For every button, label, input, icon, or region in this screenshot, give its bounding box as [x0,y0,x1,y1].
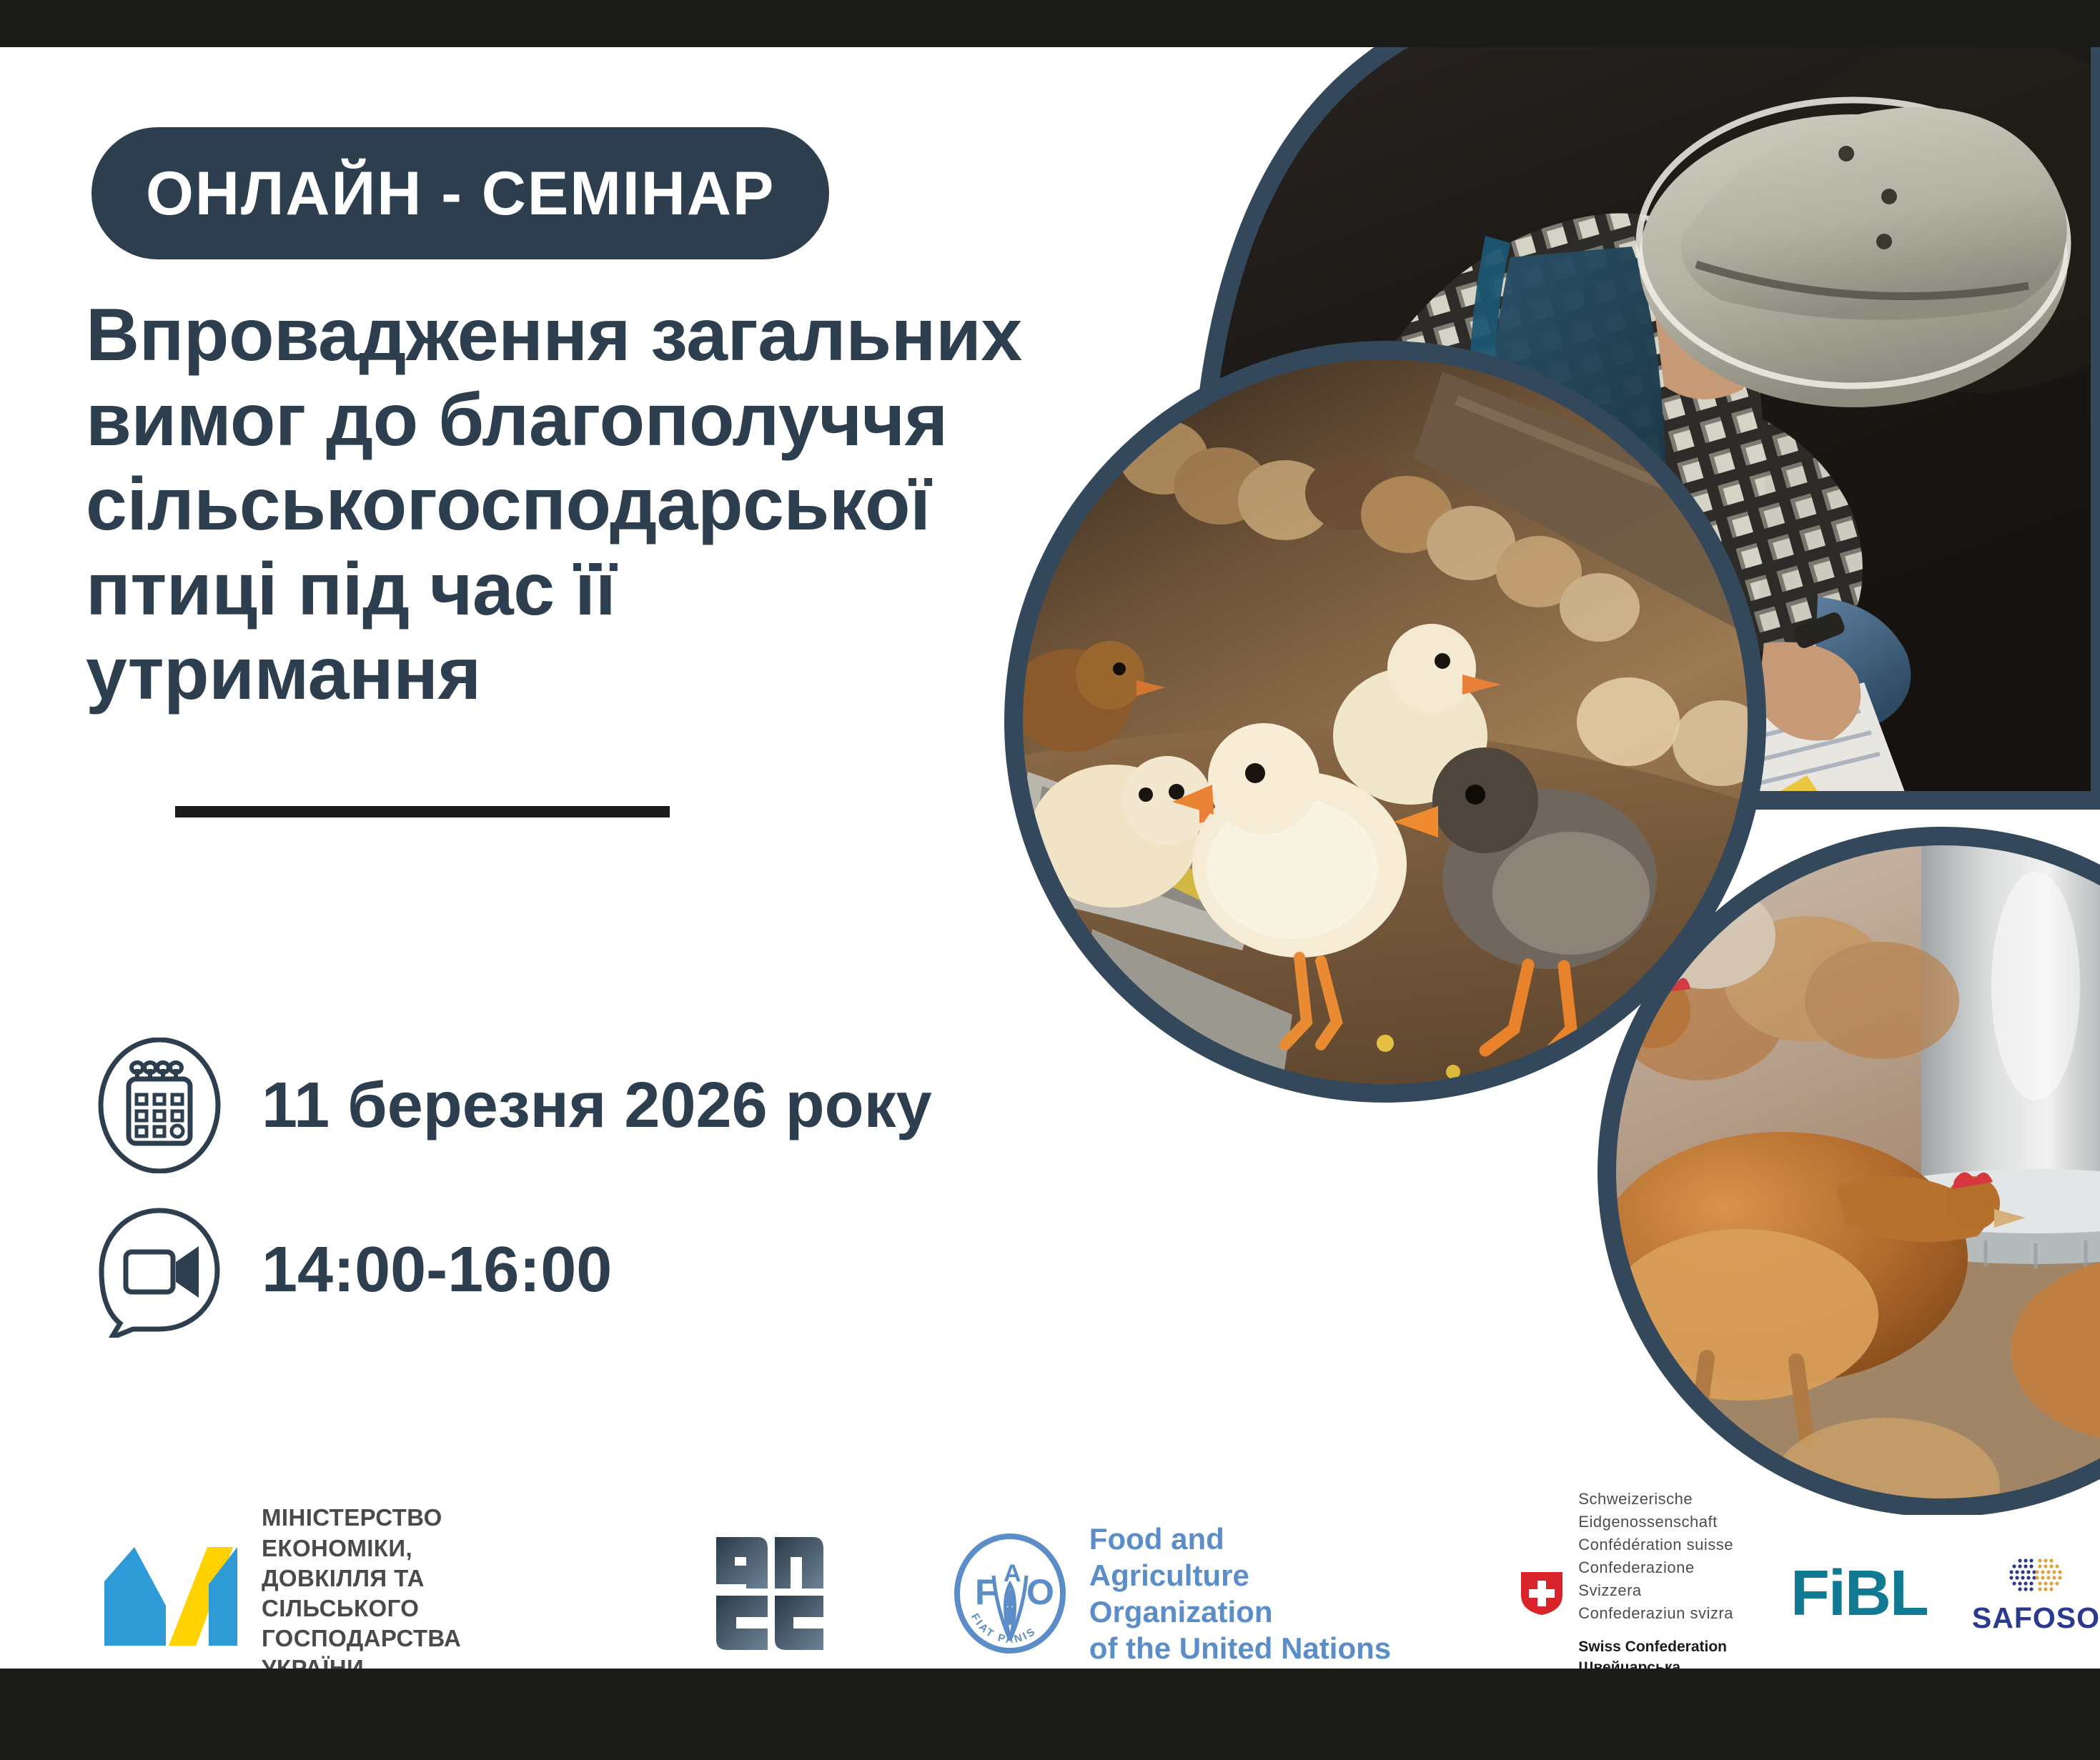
badge-label: ОНЛАЙН - СЕМІНАР [146,163,775,224]
fao-line-1: Food and Agriculture Organization [1089,1521,1391,1631]
swiss-line-de: Schweizerische Eidgenossenschaft [1578,1488,1740,1533]
fao-name: Food and Agriculture Organization of the… [1089,1521,1391,1667]
swiss-line-rm: Confederaziun svizra [1578,1602,1740,1625]
title-line-4: птиці під час її [86,547,1172,632]
safoso-dots-icon [2003,1555,2069,1599]
svg-text:A: A [1004,1560,1021,1587]
title-line-3: сільськогосподарської [86,462,1172,547]
fao-line-2: of the United Nations [1089,1630,1391,1666]
swiss-line-en: Swiss Confederation [1578,1636,1740,1657]
event-date-row: 11 березня 2026 року [91,1023,1092,1188]
swiss-text-block: Schweizerische Eidgenossenschaft Confédé… [1578,1488,1740,1699]
fao-emblem: F A O FIAT PANIS [949,1533,1071,1654]
online-seminar-badge: ОНЛАЙН - СЕМІНАР [91,127,829,259]
event-time-row: 14:00-16:00 [91,1188,1092,1352]
swiss-line-fr: Confédération suisse [1578,1533,1740,1556]
dpss-monogram [713,1533,828,1654]
ministry-m-mark [100,1540,243,1647]
ministry-line-2: ДОВКІЛЛЯ ТА СІЛЬСЬКОГО ГОСПОДАРСТВА [262,1563,585,1654]
partner-logos: МІНІСТЕРСТВО ЕКОНОМІКИ, ДОВКІЛЛЯ ТА СІЛЬ… [0,1518,2100,1669]
dpss-logo [713,1533,828,1654]
event-date: 11 березня 2026 року [262,1069,932,1143]
title-line-1: Впровадження загальних [86,293,1172,378]
safoso-logo: SAFOSO [1972,1555,2100,1633]
swiss-confederation-logo: Schweizerische Eidgenossenschaft Confédé… [1520,1488,1740,1699]
webinar-poster: ОНЛАЙН - СЕМІНАР Впровадження загальних … [0,0,2100,1760]
title-divider [175,806,670,817]
ministry-name: МІНІСТЕРСТВО ЕКОНОМІКИ, ДОВКІЛЛЯ ТА СІЛЬ… [262,1503,585,1684]
fao-logo: F A O FIAT PANIS Food and Agriculture Or… [949,1521,1391,1667]
page-title: Впровадження загальних вимог до благопол… [86,293,1172,717]
ministry-line-1: МІНІСТЕРСТВО ЕКОНОМІКИ, [262,1503,585,1563]
swiss-shield-icon [1520,1571,1564,1616]
event-time: 14:00-16:00 [262,1233,612,1307]
safoso-wordmark: SAFOSO [1972,1604,2100,1633]
swiss-line-it: Confederazione Svizzera [1578,1556,1740,1602]
swiss-languages: Schweizerische Eidgenossenschaft Confédé… [1578,1488,1740,1624]
svg-text:O: O [1026,1572,1054,1612]
video-camera-icon [91,1202,227,1338]
ministry-of-economy-logo: МІНІСТЕРСТВО ЕКОНОМІКИ, ДОВКІЛЛЯ ТА СІЛЬ… [100,1503,585,1684]
title-line-5: утримання [86,632,1172,717]
fibl-wordmark: FiBL [1791,1561,1928,1626]
left-content: ОНЛАЙН - СЕМІНАР Впровадження загальних … [0,0,1229,1760]
event-details: 11 березня 2026 року 14:00-16:00 [91,1023,1092,1352]
title-line-2: вимог до благополуччя [86,378,1172,463]
bottom-dark-bar [0,1669,2100,1760]
calendar-icon [91,1038,227,1173]
top-dark-bar [0,0,2100,47]
fibl-logo: FiBL [1791,1561,1928,1626]
